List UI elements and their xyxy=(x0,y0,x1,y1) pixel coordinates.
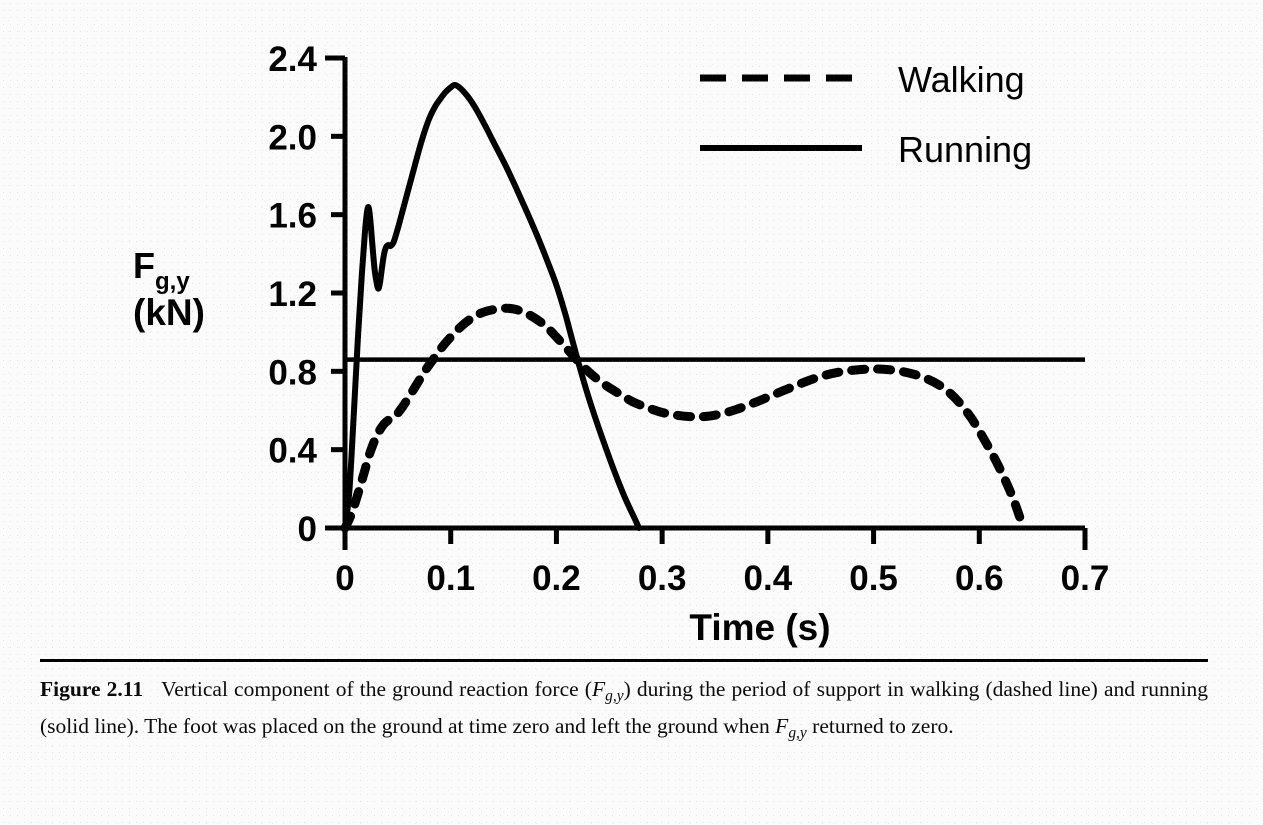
axis-title-group: Time (s)Fg,y(kN) xyxy=(133,245,831,648)
y-axis-tick-label: 0.8 xyxy=(268,353,317,392)
y-axis-unit-label: (kN) xyxy=(133,292,205,333)
legend-label-walking: Walking xyxy=(898,59,1025,100)
x-axis-tick-label: 0.7 xyxy=(1061,559,1110,598)
caption-segment-3: returned to zero. xyxy=(807,714,954,738)
caption-var-f2: F xyxy=(775,714,788,738)
x-axis-tick-label: 0 xyxy=(335,559,354,598)
x-axis-tick-label: 0.4 xyxy=(744,559,793,598)
legend-group: WalkingRunning xyxy=(700,59,1032,170)
y-axis-tick-label: 1.6 xyxy=(268,197,317,236)
y-axis-tick-label: 0 xyxy=(298,510,317,549)
figure-number: Figure 2.11 xyxy=(40,677,143,701)
y-axis-tick-label: 2.4 xyxy=(268,40,317,79)
caption-var-f: F xyxy=(592,677,605,701)
x-axis-tick-label: 0.5 xyxy=(849,559,898,598)
tick-label-group: 00.40.81.21.62.02.400.10.20.30.40.50.60.… xyxy=(268,40,1109,598)
figure-plot-area: 00.40.81.21.62.02.400.10.20.30.40.50.60.… xyxy=(0,0,1263,652)
caption-var-f-subscript: g,y xyxy=(605,687,623,704)
legend-label-running: Running xyxy=(898,129,1032,170)
x-axis-tick-label: 0.6 xyxy=(955,559,1004,598)
y-axis-tick-label: 1.2 xyxy=(268,275,317,314)
y-axis-tick-label: 2.0 xyxy=(268,118,317,157)
caption-segment-1: Vertical component of the ground reactio… xyxy=(161,677,592,701)
y-axis-tick-label: 0.4 xyxy=(268,432,317,471)
x-axis-tick-label: 0.2 xyxy=(532,559,581,598)
y-axis-title: Fg,y xyxy=(133,245,190,295)
caption-var-f2-subscript: g,y xyxy=(788,725,806,742)
series-line-walking xyxy=(345,308,1024,528)
ground-reaction-force-chart: 00.40.81.21.62.02.400.10.20.30.40.50.60.… xyxy=(0,0,1263,652)
x-axis-title: Time (s) xyxy=(689,607,830,648)
x-axis-tick-label: 0.1 xyxy=(426,559,475,598)
x-axis-tick-label: 0.3 xyxy=(638,559,687,598)
figure-caption: Figure 2.11Vertical component of the gro… xyxy=(40,660,1208,749)
